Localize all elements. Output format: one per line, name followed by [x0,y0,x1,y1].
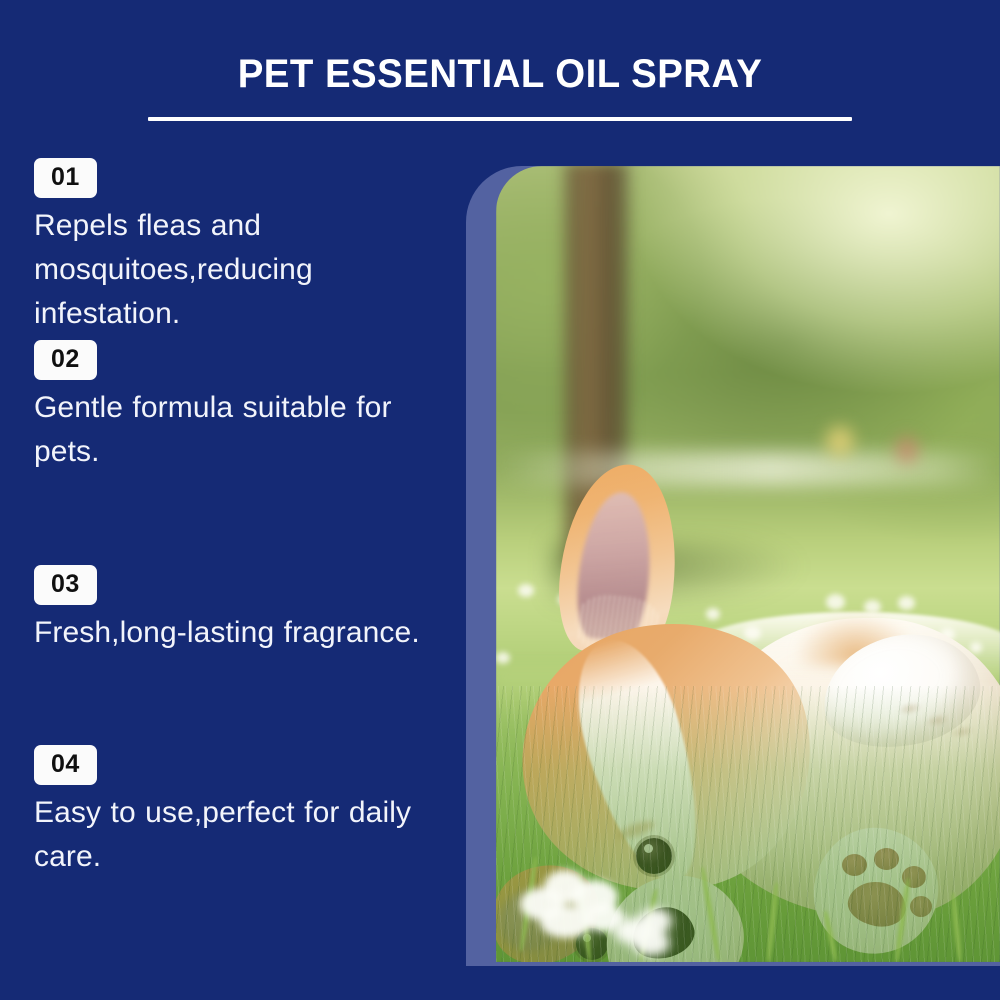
feature-item-04: 04 Easy to use,perfect for daily care. [34,745,444,879]
feature-item-01: 01 Repels fleas and mosquitoes,reducing … [34,158,444,336]
daisy-petal [632,930,670,956]
feature-text: Easy to use,perfect for daily care. [34,791,444,879]
product-photo [496,166,1000,962]
poster-header: PET ESSENTIAL OIL SPRAY [0,0,1000,140]
feature-item-03: 03 Fresh,long-lasting fragrance. [34,565,444,655]
feature-text: Fresh,long-lasting fragrance. [34,611,444,655]
pet-essential-oil-spray-poster: PET ESSENTIAL OIL SPRAY 01 Repels fleas … [0,0,1000,1000]
foreground-daisy [614,908,684,960]
title-divider [148,117,852,121]
feature-text: Repels fleas and mosquitoes,reducing inf… [34,204,444,336]
feature-number-badge: 02 [34,340,97,380]
feature-item-02: 02 Gentle formula suitable for pets. [34,340,444,474]
feature-list: 01 Repels fleas and mosquitoes,reducing … [0,140,460,970]
feature-number-badge: 04 [34,745,97,785]
feature-text: Gentle formula suitable for pets. [34,386,444,474]
page-title: PET ESSENTIAL OIL SPRAY [20,52,980,96]
feature-number-badge: 03 [34,565,97,605]
feature-number-badge: 01 [34,158,97,198]
